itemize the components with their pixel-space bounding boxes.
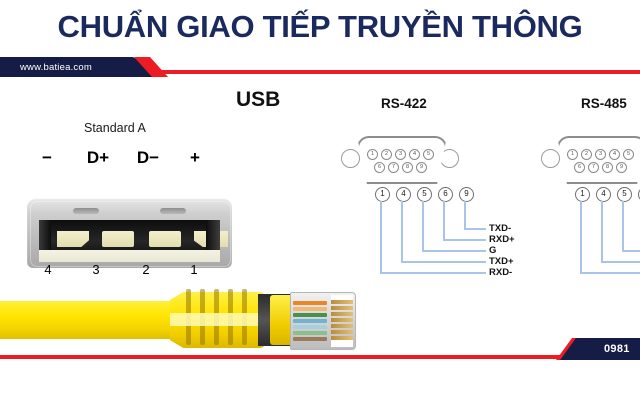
rs485-lead-v-1 (580, 201, 582, 273)
wire-brown (293, 337, 327, 341)
rs485-pin-9: 9 (616, 162, 627, 173)
wire-green-white (293, 331, 327, 335)
rj45-contact-1 (331, 300, 353, 304)
rs422-pin-6: 6 (374, 162, 385, 173)
rs485-db9-shell (557, 136, 640, 184)
rs422-signal-rxd-plus: RXD+ (489, 234, 515, 245)
rs422-lead-v-6 (443, 201, 445, 240)
rs422-pin-1: 1 (367, 149, 378, 160)
rs422-pin-7: 7 (388, 162, 399, 173)
rs422-pin-8: 8 (402, 162, 413, 173)
wire-green (293, 313, 327, 317)
rs485-pin-5: 5 (623, 149, 634, 160)
wire-orange-white (293, 307, 327, 311)
usb-type-a-port (27, 198, 232, 268)
rs485-lead-h-5 (622, 250, 640, 252)
rs422-db9-connector: 1 2 3 4 5 6 7 8 9 (341, 136, 459, 184)
rs485-lead-h-4 (601, 261, 640, 263)
rs422-pin-3: 3 (395, 149, 406, 160)
usb-top-detent-right (160, 208, 186, 214)
rs485-pin-3: 3 (595, 149, 606, 160)
poster-canvas: CHUẨN GIAO TIẾP TRUYỀN THÔNG www.batiea.… (0, 0, 640, 400)
usb-title: USB (236, 88, 280, 112)
rs422-pin-9: 9 (416, 162, 427, 173)
rj45-contact-5 (331, 324, 353, 328)
rs485-lead-v-5 (622, 201, 624, 251)
rs485-db9-connector: 1 2 3 4 5 6 7 8 9 (541, 136, 640, 184)
rs422-db9-shell (357, 136, 447, 184)
wire-blue-white (293, 325, 327, 329)
usb-pin-number-3: 3 (86, 262, 106, 277)
rs422-lead-h-9 (464, 228, 486, 230)
rs422-lead-h-6 (443, 239, 486, 241)
rs422-callout-6: 6 (438, 187, 453, 202)
rs422-mount-hole-left (341, 149, 360, 168)
header-bar (0, 57, 640, 77)
usb-subtitle: Standard A (84, 121, 146, 135)
rs422-callout-9: 9 (459, 187, 474, 202)
rs422-signal-rxd-minus: RXD- (489, 267, 512, 278)
usb-pin-number-1: 1 (184, 262, 204, 277)
rj45-contact-7 (331, 336, 353, 340)
usb-contact-1 (194, 231, 228, 247)
rs422-signal-txd-minus: TXD- (489, 223, 511, 234)
usb-top-detent-left (73, 208, 99, 214)
rs485-lead-h-1 (580, 272, 640, 274)
usb-contact-2 (149, 231, 181, 247)
wire-orange (293, 301, 327, 305)
rs485-lead-v-4 (601, 201, 603, 262)
rs422-lead-h-4 (401, 261, 486, 263)
ethernet-cable (0, 289, 335, 351)
rs485-title: RS-485 (581, 96, 627, 111)
usb-pin-number-4: 4 (38, 262, 58, 277)
rs485-mount-hole-left (541, 149, 560, 168)
usb-pin-number-2: 2 (136, 262, 156, 277)
rs422-lead-h-1 (380, 272, 486, 274)
rs422-lead-v-1 (380, 201, 382, 273)
usb-cavity (39, 220, 220, 250)
rs422-callout-1: 1 (375, 187, 390, 202)
rs422-pin-5: 5 (423, 149, 434, 160)
rs422-lead-v-4 (401, 201, 403, 262)
rs485-callout-4: 4 (596, 187, 611, 202)
rs485-pin-7: 7 (588, 162, 599, 173)
usb-signal-1: + (178, 148, 212, 168)
boot-mid-band (170, 313, 265, 326)
rj45-contact-6 (331, 330, 353, 334)
rs422-pin-4: 4 (409, 149, 420, 160)
footer-red-rule (0, 355, 640, 359)
rj45-plug (290, 292, 356, 350)
usb-signal-4: − (30, 148, 64, 168)
rs485-pin-8: 8 (602, 162, 613, 173)
rs422-lead-h-5 (422, 250, 486, 252)
rs422-callout-5: 5 (417, 187, 432, 202)
rs485-callout-1: 1 (575, 187, 590, 202)
usb-contact-3 (102, 231, 134, 247)
usb-tongue (39, 250, 220, 262)
usb-signal-2: D− (126, 148, 170, 168)
rs485-pin-6: 6 (574, 162, 585, 173)
rs422-title: RS-422 (381, 96, 427, 111)
rs485-pin-1: 1 (567, 149, 578, 160)
usb-signal-3: D+ (76, 148, 120, 168)
rs422-signal-g: G (489, 245, 496, 256)
usb-contact-4 (57, 231, 89, 247)
rj45-contact-3 (331, 312, 353, 316)
page-title: CHUẨN GIAO TIẾP TRUYỀN THÔNG (0, 4, 640, 50)
rs422-callout-4: 4 (396, 187, 411, 202)
rs422-pin-2: 2 (381, 149, 392, 160)
rj45-contact-4 (331, 318, 353, 322)
cable-jacket (0, 301, 180, 339)
rs485-pin-4: 4 (609, 149, 620, 160)
website-url: www.batiea.com (20, 59, 92, 75)
rj45-contact-2 (331, 306, 353, 310)
rs422-lead-v-5 (422, 201, 424, 251)
footer-phone-number: 0981 (604, 340, 630, 358)
wire-blue (293, 319, 327, 323)
rs422-lead-v-9 (464, 201, 466, 229)
rs485-pin-2: 2 (581, 149, 592, 160)
rs422-signal-txd-plus: TXD+ (489, 256, 514, 267)
rs485-callout-5: 5 (617, 187, 632, 202)
